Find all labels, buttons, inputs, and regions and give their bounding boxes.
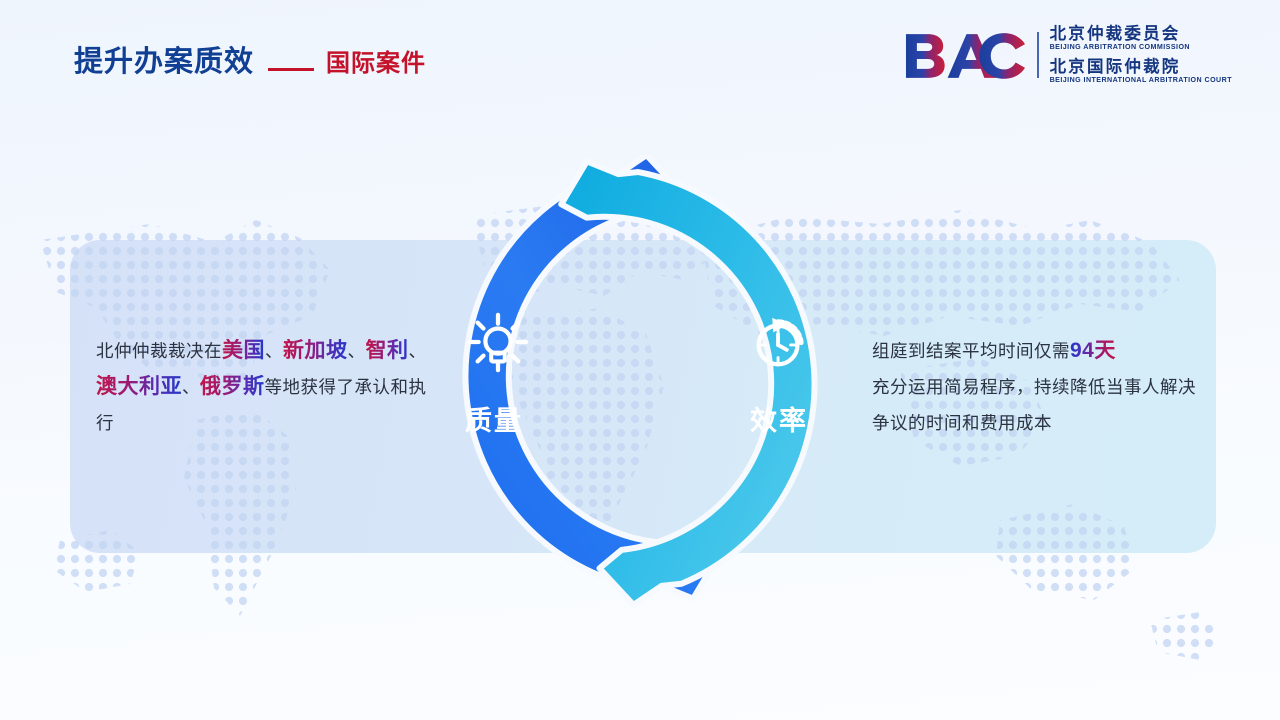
- country-singapore: 新加坡: [283, 339, 348, 362]
- logo-line2-cn: 北京国际仲裁院: [1050, 59, 1232, 76]
- left-text-block: 北仲仲裁裁决在美国、新加坡、智利、澳大利亚、俄罗斯等地获得了承认和执行: [96, 333, 441, 441]
- cycle-label-efficiency: 效率: [750, 399, 808, 438]
- sep-2: 、: [348, 341, 366, 361]
- cycle-label-quality: 质量: [465, 399, 523, 438]
- country-united-states: 美国: [222, 339, 265, 362]
- lightbulb-icon: [467, 312, 529, 374]
- logo-line1-cn: 北京仲裁委员会: [1050, 26, 1232, 43]
- logo-divider: [1037, 32, 1039, 78]
- right-text-block: 组庭到结案平均时间仅需94天 充分运用简易程序，持续降低当事人解决争议的时间和费…: [872, 333, 1202, 441]
- sep-1: 、: [265, 341, 283, 361]
- logo-text-block: 北京仲裁委员会 BEIJING ARBITRATION COMMISSION 北…: [1050, 26, 1232, 84]
- title-divider-dash: [268, 68, 314, 71]
- slide-root: 提升办案质效 国际案件: [0, 0, 1280, 720]
- metric-average-days: 94天: [1070, 339, 1116, 362]
- cycle-diagram: [424, 155, 856, 615]
- logo-line1-en: BEIJING ARBITRATION COMMISSION: [1050, 44, 1232, 51]
- clock-arrow-icon: [749, 312, 811, 374]
- bac-logo-mark: [903, 30, 1027, 80]
- country-chile: 智利: [366, 339, 409, 362]
- page-title-subtitle: 国际案件: [326, 43, 426, 78]
- sep-4: 、: [182, 377, 200, 397]
- page-title-main: 提升办案质效: [74, 38, 254, 80]
- page-title: 提升办案质效 国际案件: [74, 38, 426, 80]
- country-russia: 俄罗斯: [200, 375, 265, 398]
- right-text-detail: 充分运用简易程序，持续降低当事人解决争议的时间和费用成本: [872, 377, 1196, 433]
- logo-line2-en: BEIJING INTERNATIONAL ARBITRATION COURT: [1050, 77, 1232, 84]
- left-text-lead: 北仲仲裁裁决在: [96, 341, 222, 361]
- country-australia: 澳大利亚: [96, 375, 182, 398]
- slide-header: 提升办案质效 国际案件: [0, 0, 1280, 108]
- bac-logo: 北京仲裁委员会 BEIJING ARBITRATION COMMISSION 北…: [903, 24, 1232, 86]
- right-text-lead: 组庭到结案平均时间仅需: [872, 341, 1070, 361]
